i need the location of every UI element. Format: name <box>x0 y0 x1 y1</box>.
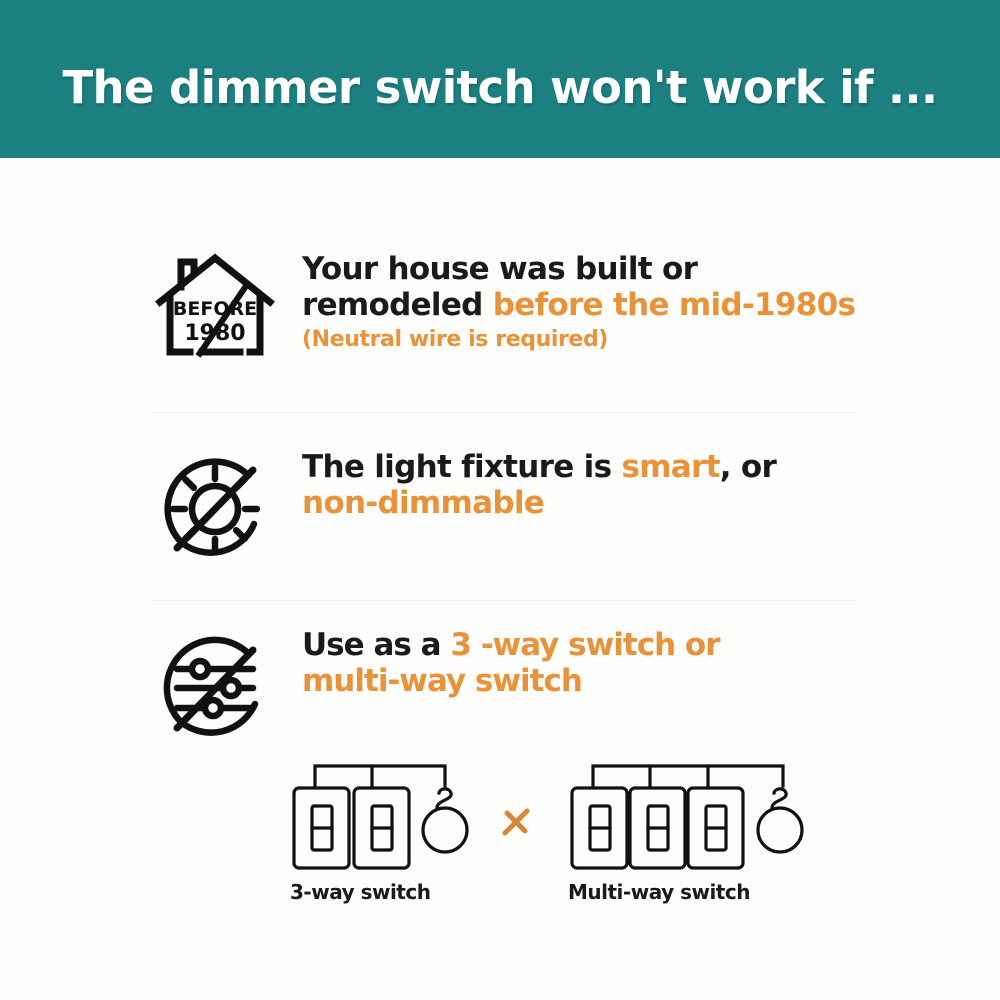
condition-text-black: Use as a <box>302 627 450 663</box>
header-banner: The dimmer switch won't work if ... <box>0 0 1000 158</box>
x-mark-icon <box>496 802 536 842</box>
condition-subnote: (Neutral wire is required) <box>302 324 855 353</box>
house-icon-label-before: BEFORE <box>173 298 257 320</box>
condition-row-multiway: Use as a 3 -way switch or multi-way swit… <box>150 626 720 748</box>
condition-row-fixture: The light fixture is smart, or non-dimma… <box>150 448 776 568</box>
icon-cell <box>150 626 280 748</box>
text-cell: Your house was built or remodeled before… <box>280 250 855 353</box>
infographic-page: The dimmer switch won't work if ... <box>0 0 1000 1000</box>
condition-line-1: Use as a 3 -way switch or <box>302 628 720 664</box>
condition-text-black: remodeled <box>302 287 493 323</box>
three-way-switch-diagram <box>290 758 480 873</box>
divider-2 <box>150 600 856 601</box>
page-title: The dimmer switch won't work if ... <box>62 49 937 110</box>
condition-text-accent: 3 -way switch or <box>450 627 719 663</box>
diagram-caption-three-way: 3-way switch <box>290 880 430 904</box>
condition-line-2: multi-way switch <box>302 664 720 700</box>
divider-1 <box>150 412 856 413</box>
content-area: BEFORE 1980 Your house was built or remo… <box>0 158 1000 1000</box>
condition-text-black-tail: , or <box>720 449 776 485</box>
condition-row-house: BEFORE 1980 Your house was built or remo… <box>150 250 855 360</box>
diagram-group-three-way: 3-way switch <box>290 758 480 878</box>
no-smart-bulb-icon <box>156 450 274 568</box>
condition-text-black: Your house was built or <box>302 251 697 287</box>
condition-text-black: The light fixture is <box>302 449 621 485</box>
condition-text-accent: non-dimmable <box>302 485 544 521</box>
diagram-caption-multi-way: Multi-way switch <box>568 880 750 904</box>
multi-way-switch-diagram <box>568 758 820 873</box>
condition-line-2: non-dimmable <box>302 486 776 522</box>
house-before-1980-icon: BEFORE 1980 <box>154 252 276 360</box>
condition-line-1: Your house was built or <box>302 252 855 288</box>
text-cell: The light fixture is smart, or non-dimma… <box>280 448 776 522</box>
no-multiway-dimmer-icon <box>155 628 275 748</box>
condition-text-accent: multi-way switch <box>302 663 582 699</box>
switch-diagram-area: 3-way switch <box>290 758 820 918</box>
condition-line-1: The light fixture is smart, or <box>302 450 776 486</box>
icon-cell: BEFORE 1980 <box>150 250 280 360</box>
text-cell: Use as a 3 -way switch or multi-way swit… <box>280 626 720 700</box>
condition-text-accent: smart <box>621 449 719 485</box>
condition-line-2: remodeled before the mid-1980s <box>302 288 855 324</box>
condition-text-accent: before the mid-1980s <box>493 287 856 323</box>
icon-cell <box>150 448 280 568</box>
diagram-group-multi-way: Multi-way switch <box>568 758 820 878</box>
